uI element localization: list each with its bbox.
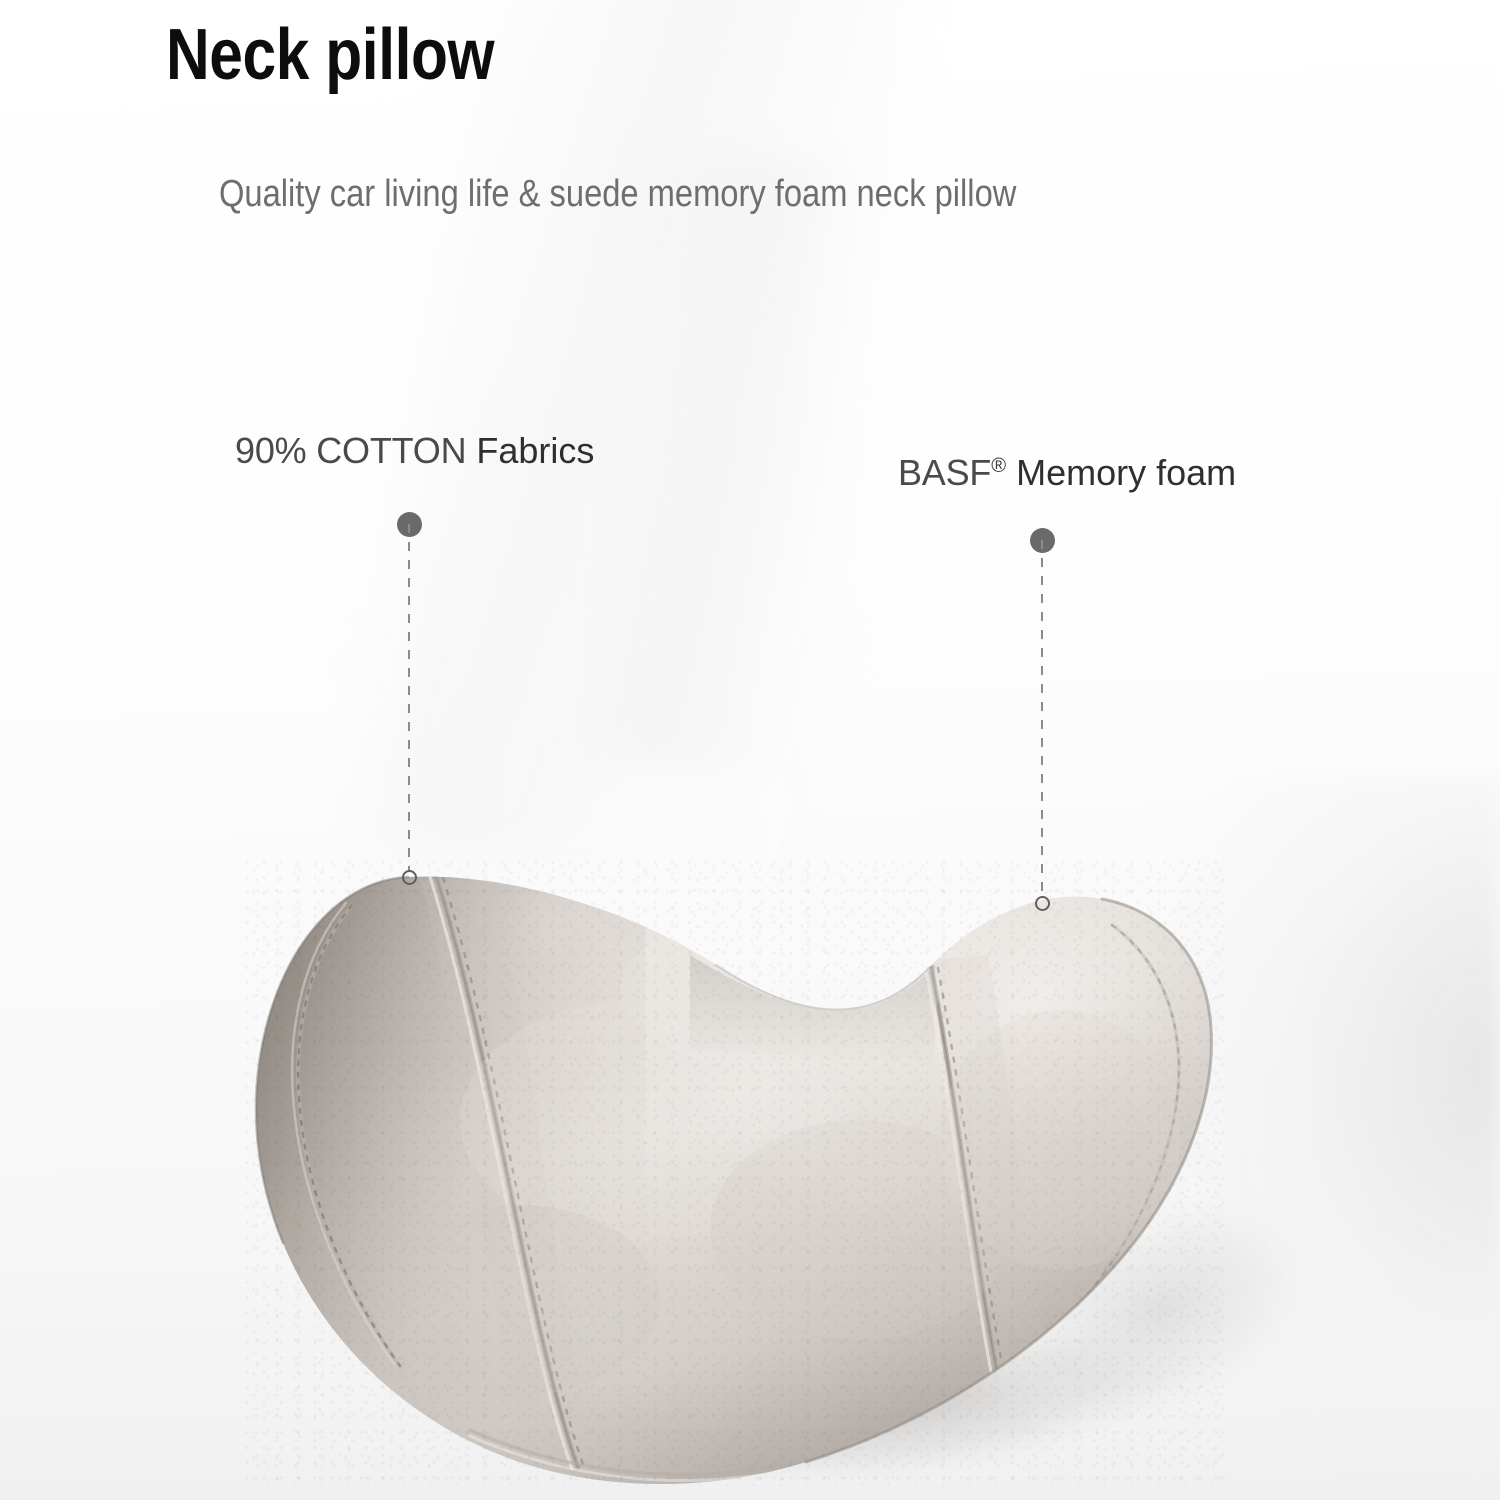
callout-label-basf: BASF® Memory foam	[898, 455, 1236, 491]
page-subtitle: Quality car living life & suede memory f…	[219, 172, 1016, 218]
callout-anchor-ring-basf	[1035, 896, 1050, 911]
callout-basf-lead: BASF	[898, 452, 991, 493]
callout-basf-tail: Memory foam	[1006, 452, 1236, 493]
background-gradient	[0, 0, 1500, 1500]
callout-cotton-tail: Fabrics	[466, 430, 594, 471]
callout-leader-line-basf	[1041, 540, 1043, 898]
callout-anchor-ring-cotton	[402, 870, 417, 885]
page-title: Neck pillow	[166, 18, 494, 94]
callout-cotton-lead: 90% COTTON	[235, 430, 466, 471]
callout-leader-line-cotton	[408, 524, 410, 872]
product-infographic-canvas: Neck pillow Quality car living life & su…	[0, 0, 1500, 1500]
callout-label-cotton: 90% COTTON Fabrics	[235, 433, 594, 469]
callout-basf-superscript: ®	[991, 455, 1006, 477]
